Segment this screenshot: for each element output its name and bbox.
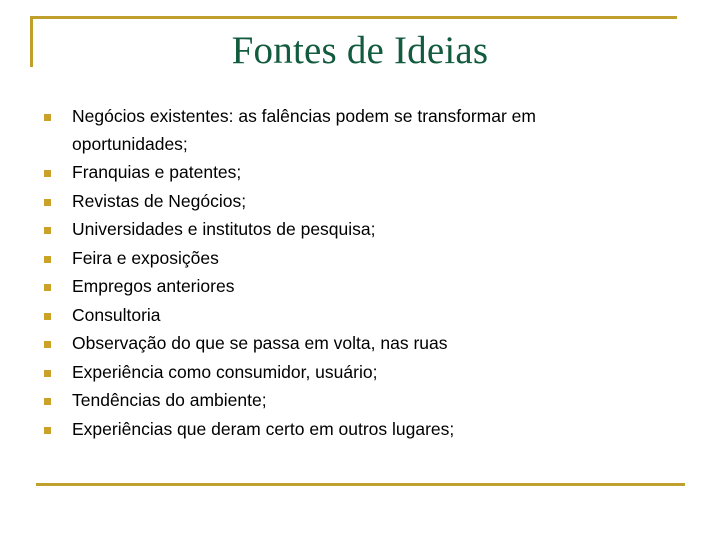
list-item: Empregos anteriores	[40, 273, 670, 301]
bullet-list: Negócios existentes: as falências podem …	[40, 103, 670, 444]
square-bullet-icon	[44, 341, 51, 348]
list-item: Universidades e institutos de pesquisa;	[40, 216, 670, 244]
square-bullet-icon	[44, 199, 51, 206]
list-item: Negócios existentes: as falências podem …	[40, 103, 670, 158]
list-item: Feira e exposições	[40, 245, 670, 273]
square-bullet-icon	[44, 256, 51, 263]
square-bullet-icon	[44, 114, 51, 121]
square-bullet-icon	[44, 370, 51, 377]
list-item: Revistas de Negócios;	[40, 188, 670, 216]
list-item-label: Universidades e institutos de pesquisa;	[72, 216, 670, 244]
list-item: Experiência como consumidor, usuário;	[40, 359, 670, 387]
list-item: Experiências que deram certo em outros l…	[40, 416, 670, 444]
list-item-label: Empregos anteriores	[72, 273, 670, 301]
list-item: Consultoria	[40, 302, 670, 330]
square-bullet-icon	[44, 227, 51, 234]
list-item-label: Negócios existentes: as falências podem …	[72, 103, 647, 158]
square-bullet-icon	[44, 427, 51, 434]
list-item: Tendências do ambiente;	[40, 387, 670, 415]
square-bullet-icon	[44, 284, 51, 291]
list-item-label: Experiências que deram certo em outros l…	[72, 416, 670, 444]
list-item-label: Experiência como consumidor, usuário;	[72, 359, 670, 387]
list-item-label: Tendências do ambiente;	[72, 387, 670, 415]
list-item-label: Franquias e patentes;	[72, 159, 670, 187]
list-item-label: Feira e exposições	[72, 245, 670, 273]
square-bullet-icon	[44, 398, 51, 405]
slide-canvas: Fontes de Ideias Negócios existentes: as…	[0, 0, 720, 540]
list-item: Franquias e patentes;	[40, 159, 670, 187]
list-item-label: Revistas de Negócios;	[72, 188, 670, 216]
slide-title: Fontes de Ideias	[0, 28, 720, 74]
decorative-rule-bottom	[36, 483, 685, 486]
list-item: Observação do que se passa em volta, nas…	[40, 330, 670, 358]
square-bullet-icon	[44, 170, 51, 177]
list-item-label: Observação do que se passa em volta, nas…	[72, 330, 670, 358]
list-item-label: Consultoria	[72, 302, 670, 330]
square-bullet-icon	[44, 313, 51, 320]
decorative-rule-top	[30, 16, 677, 19]
